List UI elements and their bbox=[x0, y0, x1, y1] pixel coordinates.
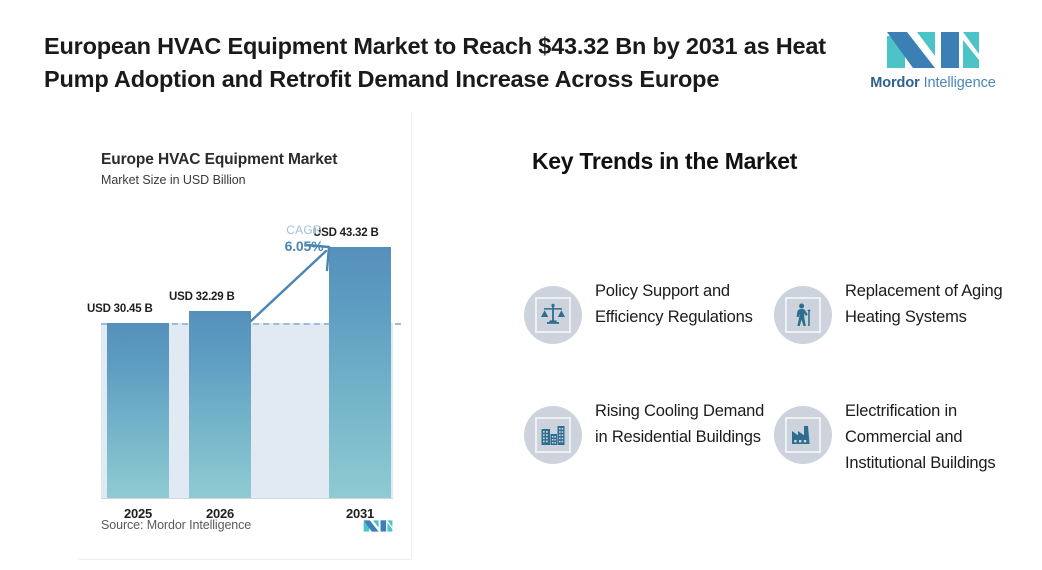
chart-plot-area: USD 30.45 B USD 32.29 B USD 43.32 B CAGR… bbox=[101, 223, 393, 498]
cagr-value: 6.05% bbox=[269, 238, 339, 256]
bar-label-2025: USD 30.45 B bbox=[87, 303, 153, 315]
trend-item-electrification-commercial: Electrification in Commercial and Instit… bbox=[774, 395, 1024, 477]
bar-series: USD 30.45 B USD 32.29 B USD 43.32 B bbox=[101, 223, 393, 498]
trends-heading: Key Trends in the Market bbox=[532, 148, 797, 175]
trends-grid: Policy Support and Efficiency Regulation… bbox=[524, 275, 1024, 477]
scales-of-justice-icon bbox=[540, 302, 566, 328]
x-axis-line bbox=[101, 498, 393, 499]
trend-text: Policy Support and Efficiency Regulation… bbox=[595, 275, 770, 331]
chart-source-row: Source: Mordor Intelligence bbox=[101, 517, 393, 533]
brand-wordmark: Mordor Intelligence bbox=[870, 75, 995, 91]
chart-subtitle: Market Size in USD Billion bbox=[101, 173, 246, 187]
source-text: Source: Mordor Intelligence bbox=[101, 518, 251, 532]
bar-2026 bbox=[189, 311, 251, 498]
page-title: European HVAC Equipment Market to Reach … bbox=[44, 30, 844, 97]
cagr-label: CAGR bbox=[269, 223, 339, 238]
brand-name-bold: Mordor bbox=[870, 75, 919, 91]
trend-icon-wrapper bbox=[774, 286, 832, 344]
mordor-m-logo-icon bbox=[885, 24, 981, 70]
trend-icon-wrapper bbox=[524, 406, 582, 464]
residential-buildings-icon bbox=[540, 422, 566, 448]
chart-card: Europe HVAC Equipment Market Market Size… bbox=[78, 112, 412, 560]
infographic-root: European HVAC Equipment Market to Reach … bbox=[0, 0, 1042, 570]
brand-name-light: Intelligence bbox=[924, 75, 996, 91]
chart-title: Europe HVAC Equipment Market bbox=[101, 151, 337, 169]
brand-logo: Mordor Intelligence bbox=[872, 24, 994, 96]
trend-text: Electrification in Commercial and Instit… bbox=[845, 395, 1020, 477]
trend-item-policy-support: Policy Support and Efficiency Regulation… bbox=[524, 275, 774, 395]
trend-text: Replacement of Aging Heating Systems bbox=[845, 275, 1020, 331]
bar-label-2026: USD 32.29 B bbox=[169, 291, 235, 303]
elderly-person-with-cane-icon bbox=[790, 302, 816, 328]
trend-item-replacement-aging-heating: Replacement of Aging Heating Systems bbox=[774, 275, 1024, 395]
mordor-m-mark-icon bbox=[363, 517, 393, 533]
trend-icon-wrapper bbox=[774, 406, 832, 464]
bar-2031 bbox=[329, 247, 391, 498]
trend-icon-wrapper bbox=[524, 286, 582, 344]
trend-text: Rising Cooling Demand in Residential Bui… bbox=[595, 395, 770, 451]
cagr-annotation: CAGR 6.05% bbox=[269, 223, 339, 256]
trend-item-rising-cooling-demand: Rising Cooling Demand in Residential Bui… bbox=[524, 395, 774, 477]
bar-2025 bbox=[107, 323, 169, 498]
factory-icon bbox=[790, 422, 816, 448]
